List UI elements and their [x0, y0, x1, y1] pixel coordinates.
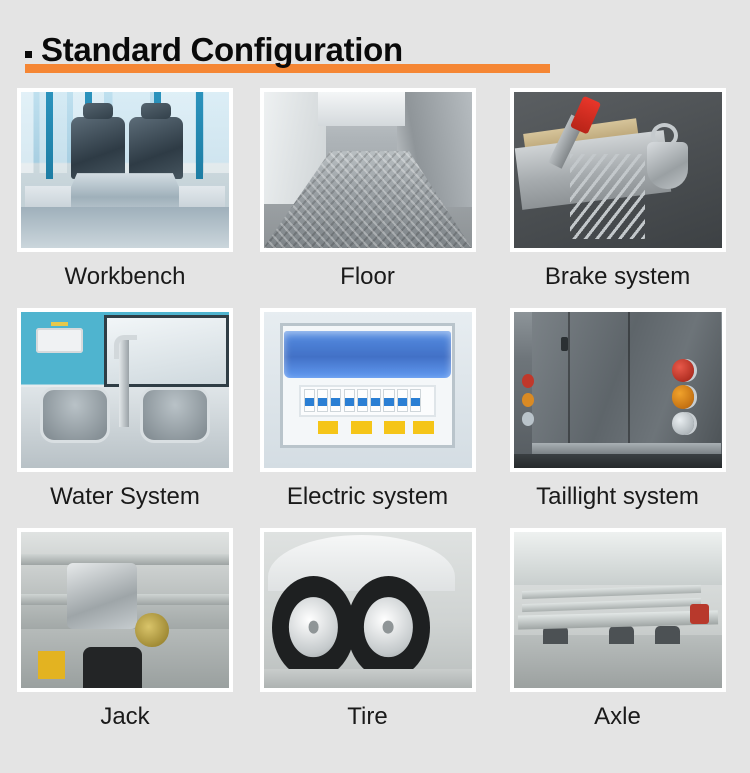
feature-cell-electric-system[interactable]: Electric system	[250, 308, 485, 528]
feature-label-floor: Floor	[340, 263, 395, 291]
feature-label-electric-system: Electric system	[287, 483, 448, 511]
tire-photo	[264, 532, 472, 688]
floor-photo	[264, 92, 472, 248]
feature-label-taillight-system: Taillight system	[536, 483, 699, 511]
workbench-photo	[21, 92, 229, 248]
feature-label-brake-system: Brake system	[545, 263, 690, 291]
feature-cell-jack[interactable]: Jack	[0, 528, 250, 753]
photo-frame	[17, 528, 233, 692]
axle-photo	[514, 532, 722, 688]
photo-frame	[260, 308, 476, 472]
feature-label-water-system: Water System	[50, 483, 200, 511]
feature-label-workbench: Workbench	[65, 263, 186, 291]
photo-frame	[510, 308, 726, 472]
feature-cell-tire[interactable]: Tire	[250, 528, 485, 753]
photo-frame	[510, 88, 726, 252]
photo-frame	[17, 308, 233, 472]
photo-frame	[260, 88, 476, 252]
feature-cell-taillight-system[interactable]: Taillight system	[485, 308, 750, 528]
feature-grid: Workbench Floor Brake sys	[0, 88, 750, 753]
jack-photo	[21, 532, 229, 688]
feature-label-jack: Jack	[100, 703, 149, 731]
photo-frame	[510, 528, 726, 692]
feature-cell-floor[interactable]: Floor	[250, 88, 485, 308]
photo-frame	[260, 528, 476, 692]
photo-frame	[17, 88, 233, 252]
square-bullet-icon	[25, 51, 32, 58]
page-root: { "page": { "background_color": "#e4e4e4…	[0, 0, 750, 773]
feature-cell-workbench[interactable]: Workbench	[0, 88, 250, 308]
feature-cell-water-system[interactable]: Water System	[0, 308, 250, 528]
page-title: Standard Configuration	[25, 31, 403, 69]
brake-system-photo	[514, 92, 722, 248]
feature-cell-brake-system[interactable]: Brake system	[485, 88, 750, 308]
page-title-text: Standard Configuration	[41, 31, 403, 68]
water-system-photo	[21, 312, 229, 468]
feature-label-tire: Tire	[347, 703, 387, 731]
taillight-system-photo	[514, 312, 722, 468]
electric-system-photo	[264, 312, 472, 468]
feature-cell-axle[interactable]: Axle	[485, 528, 750, 753]
page-title-block: Standard Configuration	[25, 31, 555, 73]
feature-label-axle: Axle	[594, 703, 641, 731]
